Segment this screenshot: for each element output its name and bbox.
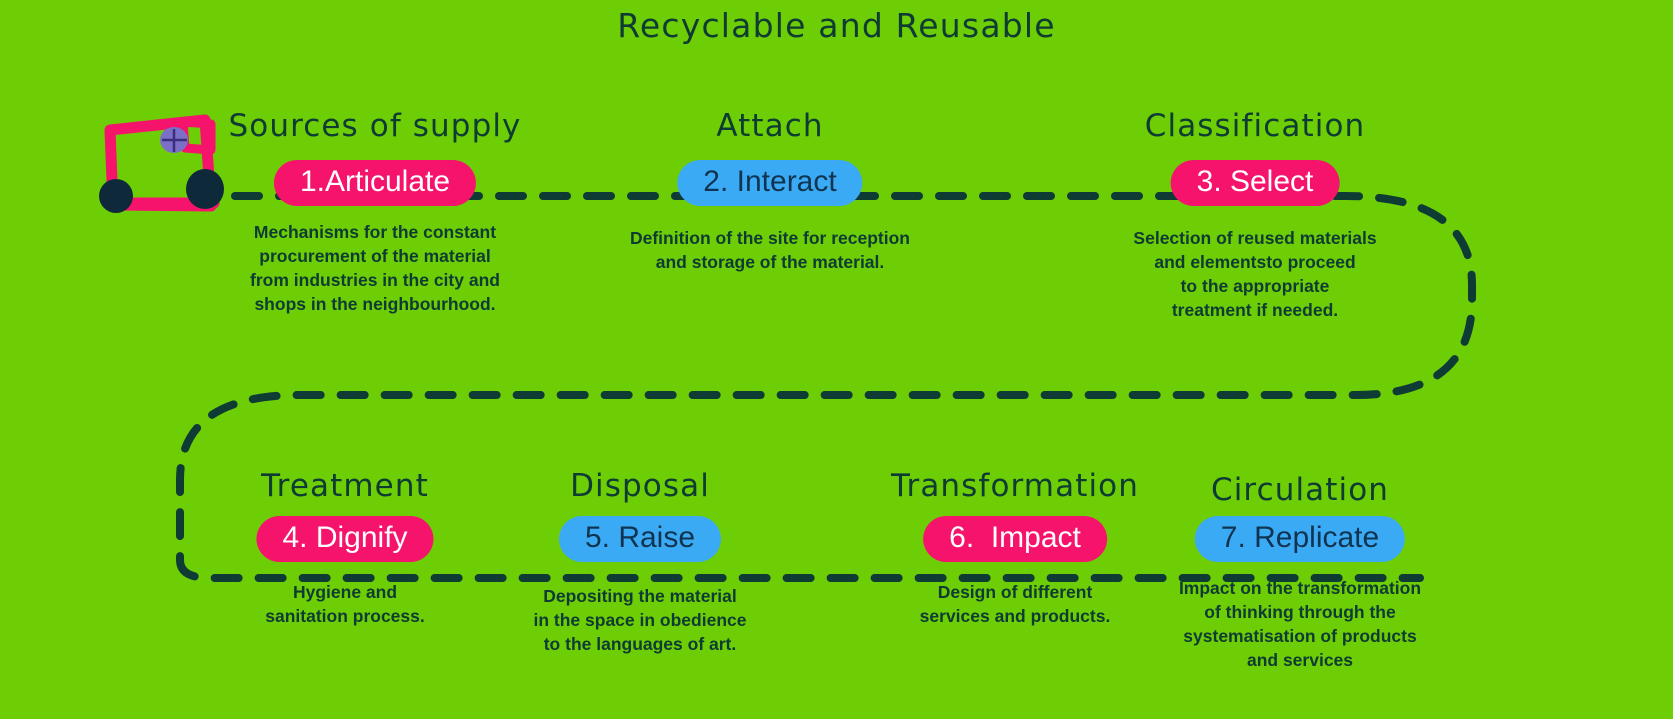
truck-cargo-icon (160, 127, 188, 153)
truck-cargo-cross-icon (162, 129, 187, 152)
step-2-heading: Attach (716, 108, 823, 144)
truck-wheel-rear-icon (99, 179, 133, 213)
step-3-description: Selection of reused materials and elemen… (1085, 226, 1425, 322)
step-7-heading: Circulation (1211, 472, 1389, 508)
step-5-description: Depositing the material in the space in … (480, 584, 800, 656)
step-5-pill[interactable]: 5. Raise (559, 516, 721, 562)
page-title: Recyclable and Reusable (0, 6, 1673, 45)
truck-cab-icon (183, 122, 211, 150)
step-2-description: Definition of the site for reception and… (580, 226, 960, 274)
step-6-heading: Transformation (891, 468, 1139, 504)
step-4-pill[interactable]: 4. Dignify (256, 516, 433, 562)
truck-body-icon (110, 120, 211, 206)
step-7-description: Impact on the transformation of thinking… (1135, 576, 1465, 672)
step-3-pill[interactable]: 3. Select (1171, 160, 1340, 206)
step-3-heading: Classification (1145, 108, 1366, 144)
step-4-description: Hygiene and sanitation process. (195, 580, 495, 628)
truck-doodle (99, 120, 224, 213)
infographic-canvas: Recyclable and Reusable Sources of suppl… (0, 0, 1673, 719)
step-1-description: Mechanisms for the constant procurement … (215, 220, 535, 316)
step-4-heading: Treatment (261, 468, 429, 504)
step-5-heading: Disposal (570, 468, 710, 504)
step-2-pill[interactable]: 2. Interact (677, 160, 862, 206)
truck-wheel-front-icon (186, 169, 224, 209)
step-6-description: Design of different services and product… (865, 580, 1165, 628)
step-7-pill[interactable]: 7. Replicate (1195, 516, 1405, 562)
step-1-pill[interactable]: 1.Articulate (274, 160, 476, 206)
step-6-pill[interactable]: 6. Impact (923, 516, 1107, 562)
step-1-heading: Sources of supply (228, 108, 521, 144)
